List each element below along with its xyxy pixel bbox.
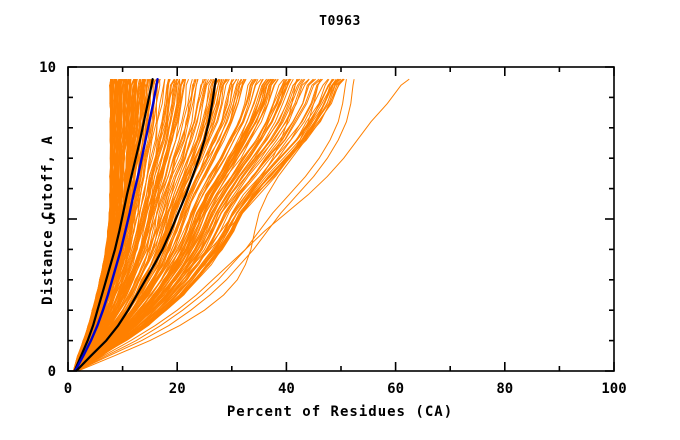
svg-text:80: 80 xyxy=(496,381,513,397)
figure-container: T0963 0204060801000510 Percent of Residu… xyxy=(0,0,680,440)
svg-text:0: 0 xyxy=(48,364,56,380)
svg-text:20: 20 xyxy=(169,381,186,397)
x-axis-label: Percent of Residues (CA) xyxy=(0,404,680,420)
svg-text:100: 100 xyxy=(601,381,626,397)
svg-text:40: 40 xyxy=(278,381,295,397)
ensemble-curves xyxy=(73,79,409,371)
svg-text:0: 0 xyxy=(64,381,72,397)
svg-text:10: 10 xyxy=(39,60,56,76)
y-axis-label: Distance Cutoff, A xyxy=(40,90,56,350)
svg-text:60: 60 xyxy=(387,381,404,397)
plot-canvas: 0204060801000510 xyxy=(0,0,680,440)
